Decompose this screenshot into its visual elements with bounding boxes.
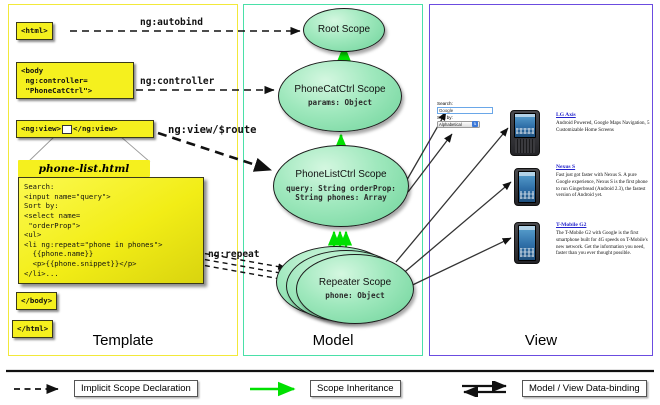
diagram-canvas: Template Model View (0, 0, 660, 405)
legend-separator-layer (0, 0, 660, 405)
